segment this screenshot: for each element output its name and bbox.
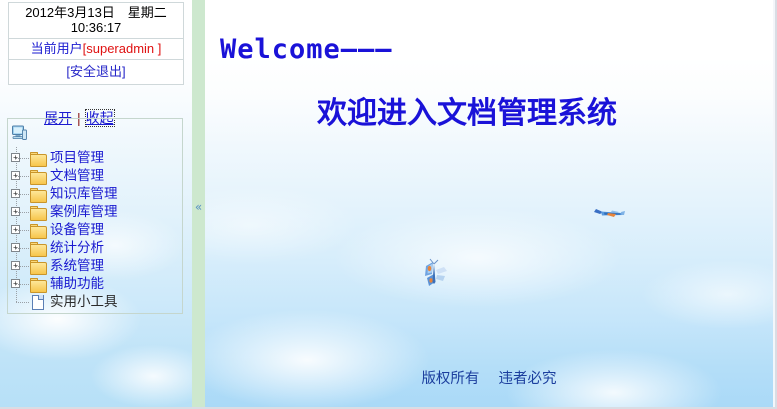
logout-box: [安全退出] — [8, 59, 184, 85]
expand-node-icon[interactable]: + — [11, 189, 20, 198]
current-user-bracket-close: ] — [158, 41, 162, 56]
expand-node-icon[interactable]: + — [11, 207, 20, 216]
tree-connector — [13, 293, 30, 311]
folder-icon — [30, 188, 47, 201]
expand-node-icon[interactable]: + — [11, 225, 20, 234]
folder-icon — [30, 260, 47, 273]
folder-icon — [30, 242, 47, 255]
current-user-label: 当前用户 — [31, 41, 83, 56]
tree-item-8[interactable]: +辅助功能 — [13, 275, 178, 293]
logout-link[interactable]: [安全退出] — [66, 64, 125, 79]
welcome-heading-cn: 欢迎进入文档管理系统 — [317, 88, 617, 132]
tree-item-4[interactable]: +案例库管理 — [13, 203, 178, 221]
footer-copyright: 版权所有 违者必究 — [205, 367, 773, 388]
tree-item-6[interactable]: +统计分析 — [13, 239, 178, 257]
tree-item-7[interactable]: +系统管理 — [13, 257, 178, 275]
panel-splitter[interactable]: « — [192, 0, 205, 409]
tree-item-5[interactable]: +设备管理 — [13, 221, 178, 239]
folder-icon — [30, 224, 47, 237]
folder-icon — [30, 152, 47, 165]
tree-item-label[interactable]: 设备管理 — [50, 221, 104, 239]
tree-item-list: +项目管理+文档管理+知识库管理+案例库管理+设备管理+统计分析+系统管理+辅助… — [13, 149, 178, 311]
current-user-name: superadmin — [86, 41, 158, 56]
current-user-box: 当前用户[superadmin ] — [8, 38, 184, 60]
folder-icon — [30, 206, 47, 219]
expand-node-icon[interactable]: + — [11, 279, 20, 288]
tree-item-label[interactable]: 文档管理 — [50, 167, 104, 185]
current-time: 10:36:17 — [9, 20, 183, 35]
tree-item-1[interactable]: +项目管理 — [13, 149, 178, 167]
collapse-sidebar-icon[interactable]: « — [192, 200, 205, 214]
tree-item-2[interactable]: +文档管理 — [13, 167, 178, 185]
welcome-heading-en: Welcome——— — [220, 34, 393, 65]
folder-icon — [30, 278, 47, 291]
tree-item-label[interactable]: 统计分析 — [50, 239, 104, 257]
tree-item-9[interactable]: 实用小工具 — [13, 293, 178, 311]
tree-item-label[interactable]: 辅助功能 — [50, 275, 104, 293]
tree-item-3[interactable]: +知识库管理 — [13, 185, 178, 203]
expand-node-icon[interactable]: + — [11, 261, 20, 270]
application-window: 2012年3月13日 星期二 10:36:17 当前用户[superadmin … — [0, 0, 777, 409]
tree-item-label[interactable]: 系统管理 — [50, 257, 104, 275]
tree-item-label[interactable]: 知识库管理 — [50, 185, 118, 203]
expand-node-icon[interactable]: + — [11, 153, 20, 162]
datetime-box: 2012年3月13日 星期二 10:36:17 — [8, 2, 184, 39]
document-icon — [30, 295, 47, 309]
airplane-icon — [590, 203, 626, 225]
main-content-area: Welcome——— 欢迎进入文档管理系统 — [205, 0, 773, 409]
tree-item-label[interactable]: 项目管理 — [50, 149, 104, 167]
folder-icon — [30, 170, 47, 183]
navigation-tree: +项目管理+文档管理+知识库管理+案例库管理+设备管理+统计分析+系统管理+辅助… — [7, 118, 183, 314]
current-date: 2012年3月13日 星期二 — [9, 5, 183, 20]
tree-item-label[interactable]: 案例库管理 — [50, 203, 118, 221]
expand-node-icon[interactable]: + — [11, 171, 20, 180]
tree-item-label[interactable]: 实用小工具 — [50, 293, 118, 311]
butterfly-icon — [417, 258, 455, 292]
expand-node-icon[interactable]: + — [11, 243, 20, 252]
sidebar-panel: 2012年3月13日 星期二 10:36:17 当前用户[superadmin … — [0, 0, 192, 409]
